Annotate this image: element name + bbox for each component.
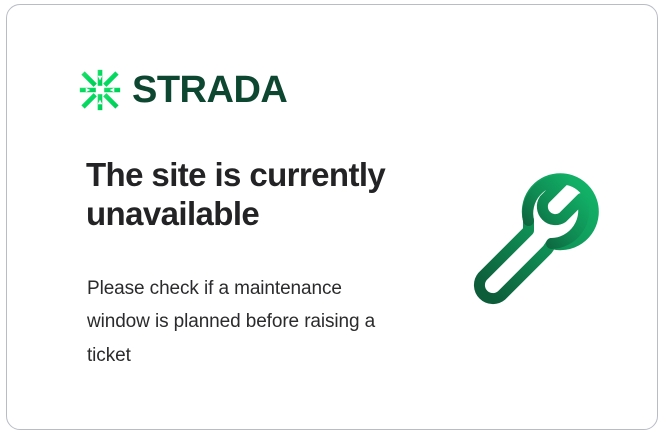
brand-wordmark: STRADA (132, 71, 287, 109)
page-description: Please check if a maintenance window is … (87, 272, 397, 372)
brand-logo: STRADA (79, 69, 287, 111)
strada-asterisk-icon (79, 69, 121, 111)
page-title: The site is currently unavailable (86, 155, 426, 234)
status-card: STRADA The site is currently unavailable… (6, 4, 658, 430)
error-page: STRADA The site is currently unavailable… (0, 0, 666, 436)
